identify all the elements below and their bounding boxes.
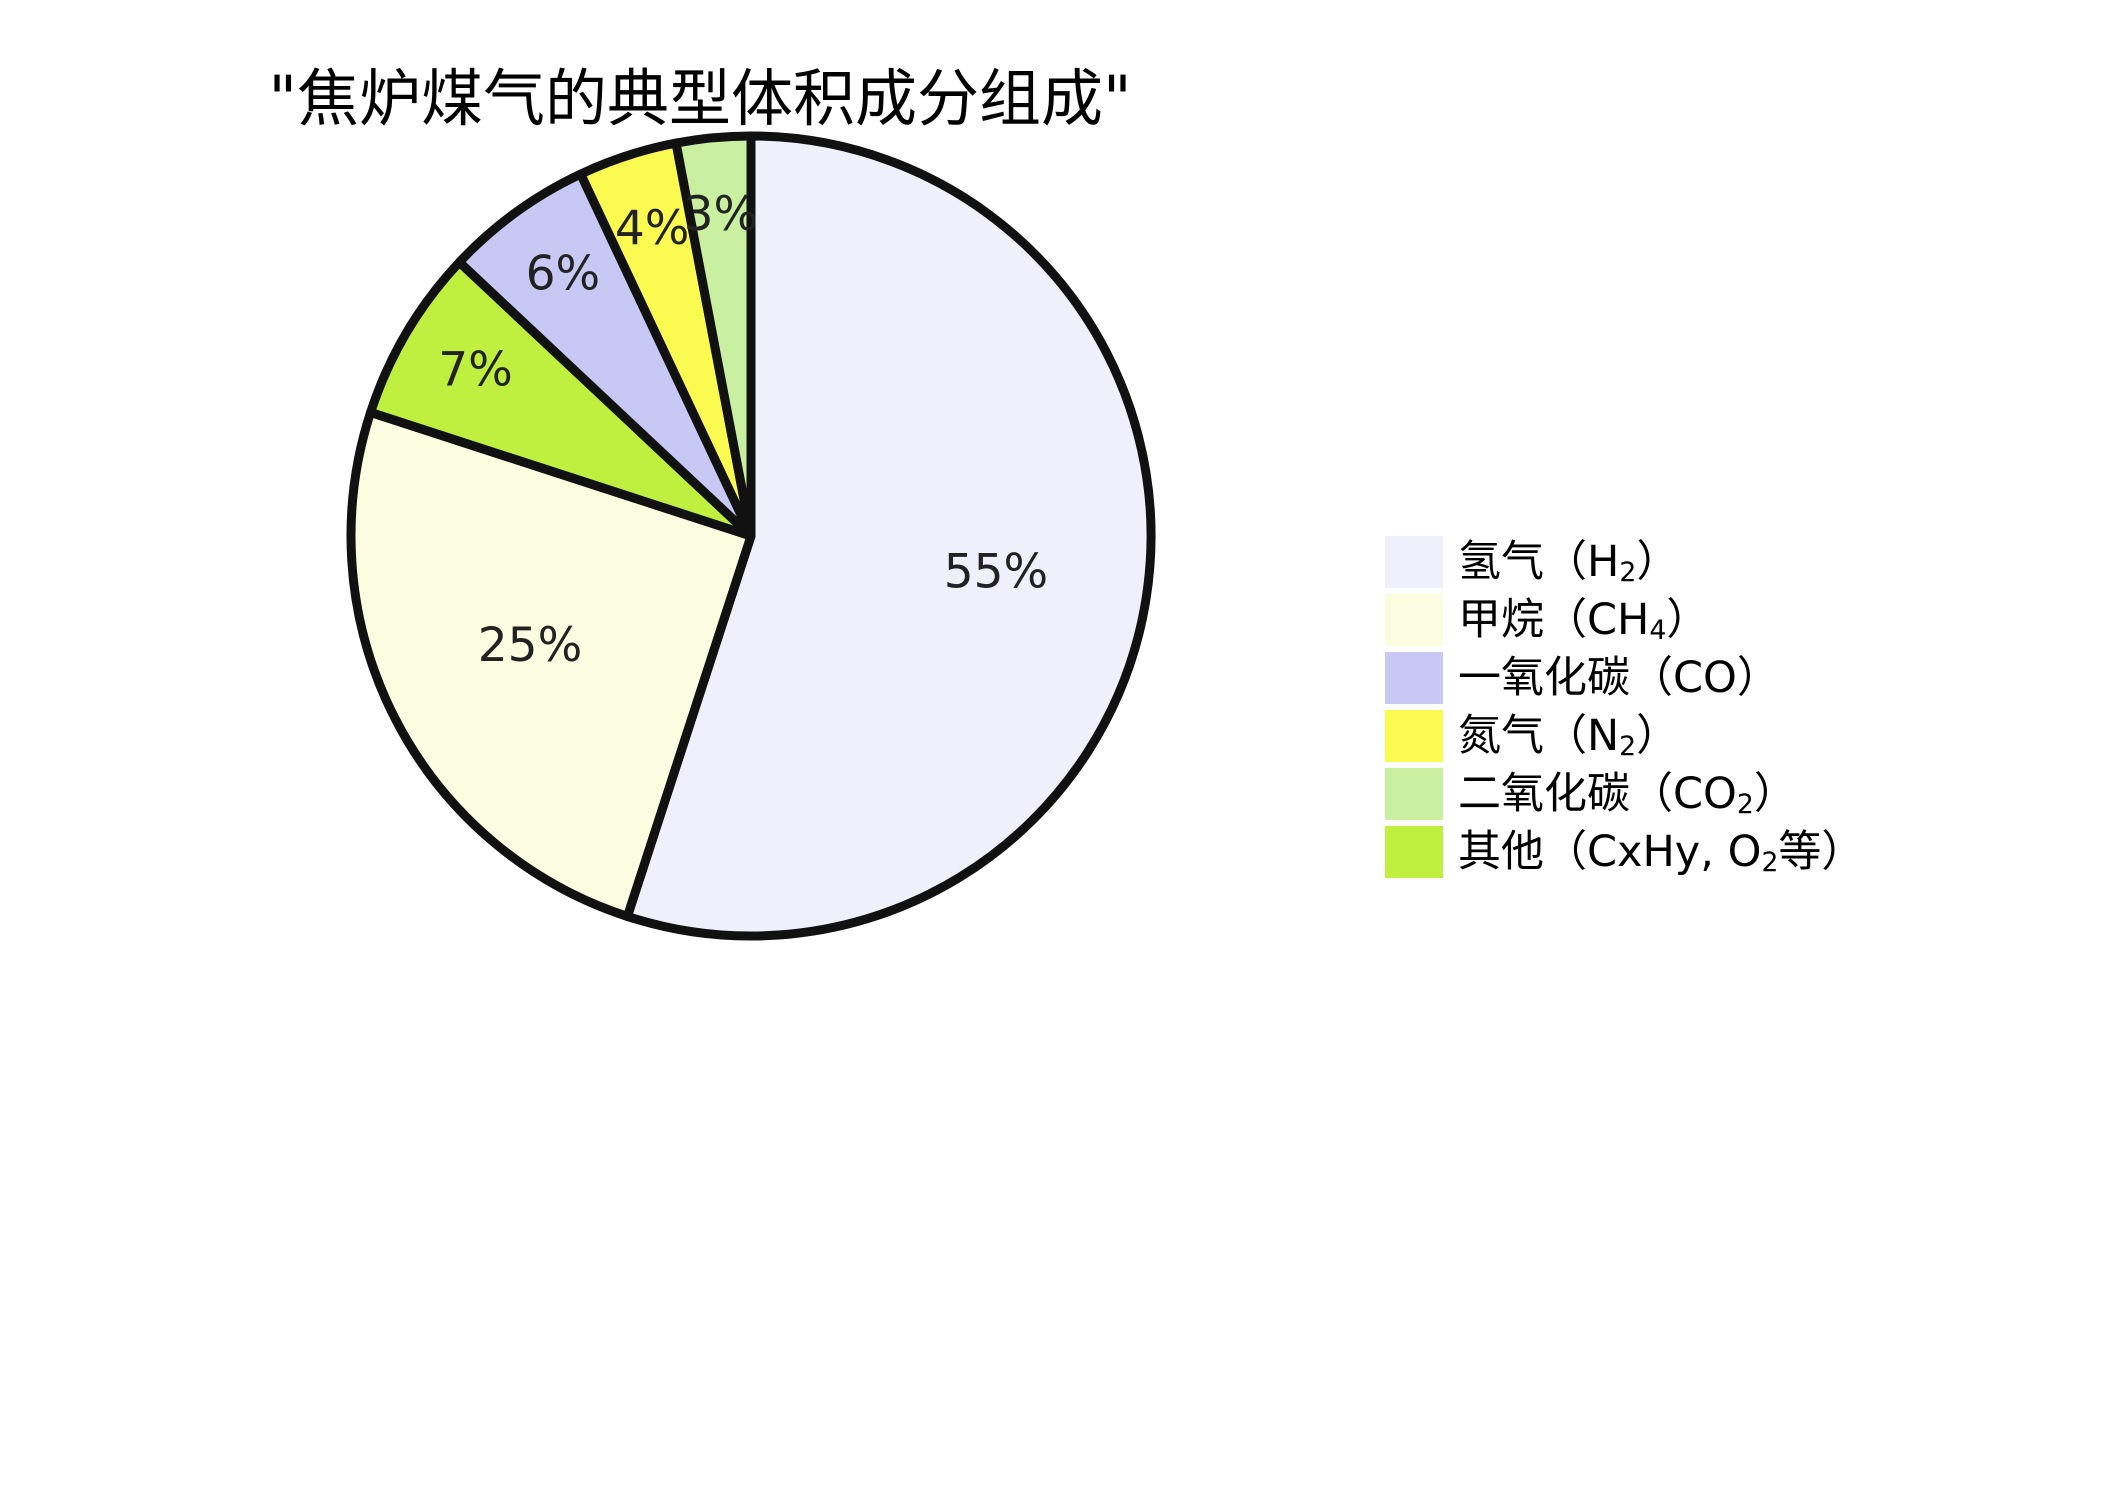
legend-item-label: 二氧化碳（CO2） [1458, 773, 1797, 816]
pie-chart-plot-area: 55%25%7%6%4%3% [345, 130, 1157, 942]
legend-item-label: 氢气（H2） [1458, 541, 1679, 584]
legend-swatch-nitrogen [1385, 710, 1443, 762]
pie-slice-percent-label: 25% [478, 618, 582, 673]
legend-swatch-hydrogen [1385, 536, 1443, 588]
legend-item[interactable]: 氢气（H2） [1385, 533, 2085, 591]
legend-item[interactable]: 其他（CxHy, O2等） [1385, 823, 2085, 881]
legend-item[interactable]: 一氧化碳（CO） [1385, 649, 2085, 707]
chart-title: "焦炉煤气的典型体积成分组成" [0, 48, 1400, 138]
legend-item[interactable]: 氮气（N2） [1385, 707, 2085, 765]
chart-legend: 氢气（H2）甲烷（CH4）一氧化碳（CO）氮气（N2）二氧化碳（CO2）其他（C… [1385, 533, 2085, 881]
legend-item-label: 氮气（N2） [1458, 715, 1679, 758]
legend-item-label: 甲烷（CH4） [1458, 599, 1709, 642]
legend-item[interactable]: 二氧化碳（CO2） [1385, 765, 2085, 823]
pie-slice-percent-label: 6% [526, 247, 601, 302]
pie-slice-percent-label: 7% [438, 343, 513, 398]
legend-swatch-carbon-dioxide [1385, 768, 1443, 820]
legend-swatch-carbon-monoxide [1385, 652, 1443, 704]
legend-item[interactable]: 甲烷（CH4） [1385, 591, 2085, 649]
legend-swatch-other [1385, 826, 1443, 878]
pie-svg: 55%25%7%6%4%3% [345, 130, 1157, 942]
legend-item-label: 其他（CxHy, O2等） [1458, 831, 1864, 874]
legend-item-label: 一氧化碳（CO） [1458, 657, 1780, 700]
pie-slice-percent-label: 4% [615, 201, 690, 256]
pie-slice-percent-label: 55% [944, 544, 1048, 599]
legend-swatch-methane [1385, 594, 1443, 646]
pie-slices-group [351, 136, 1151, 936]
pie-slice-percent-label: 3% [684, 187, 759, 242]
pie-chart-figure: "焦炉煤气的典型体积成分组成" 55%25%7%6%4%3% 氢气（H2）甲烷（… [0, 0, 2125, 1485]
